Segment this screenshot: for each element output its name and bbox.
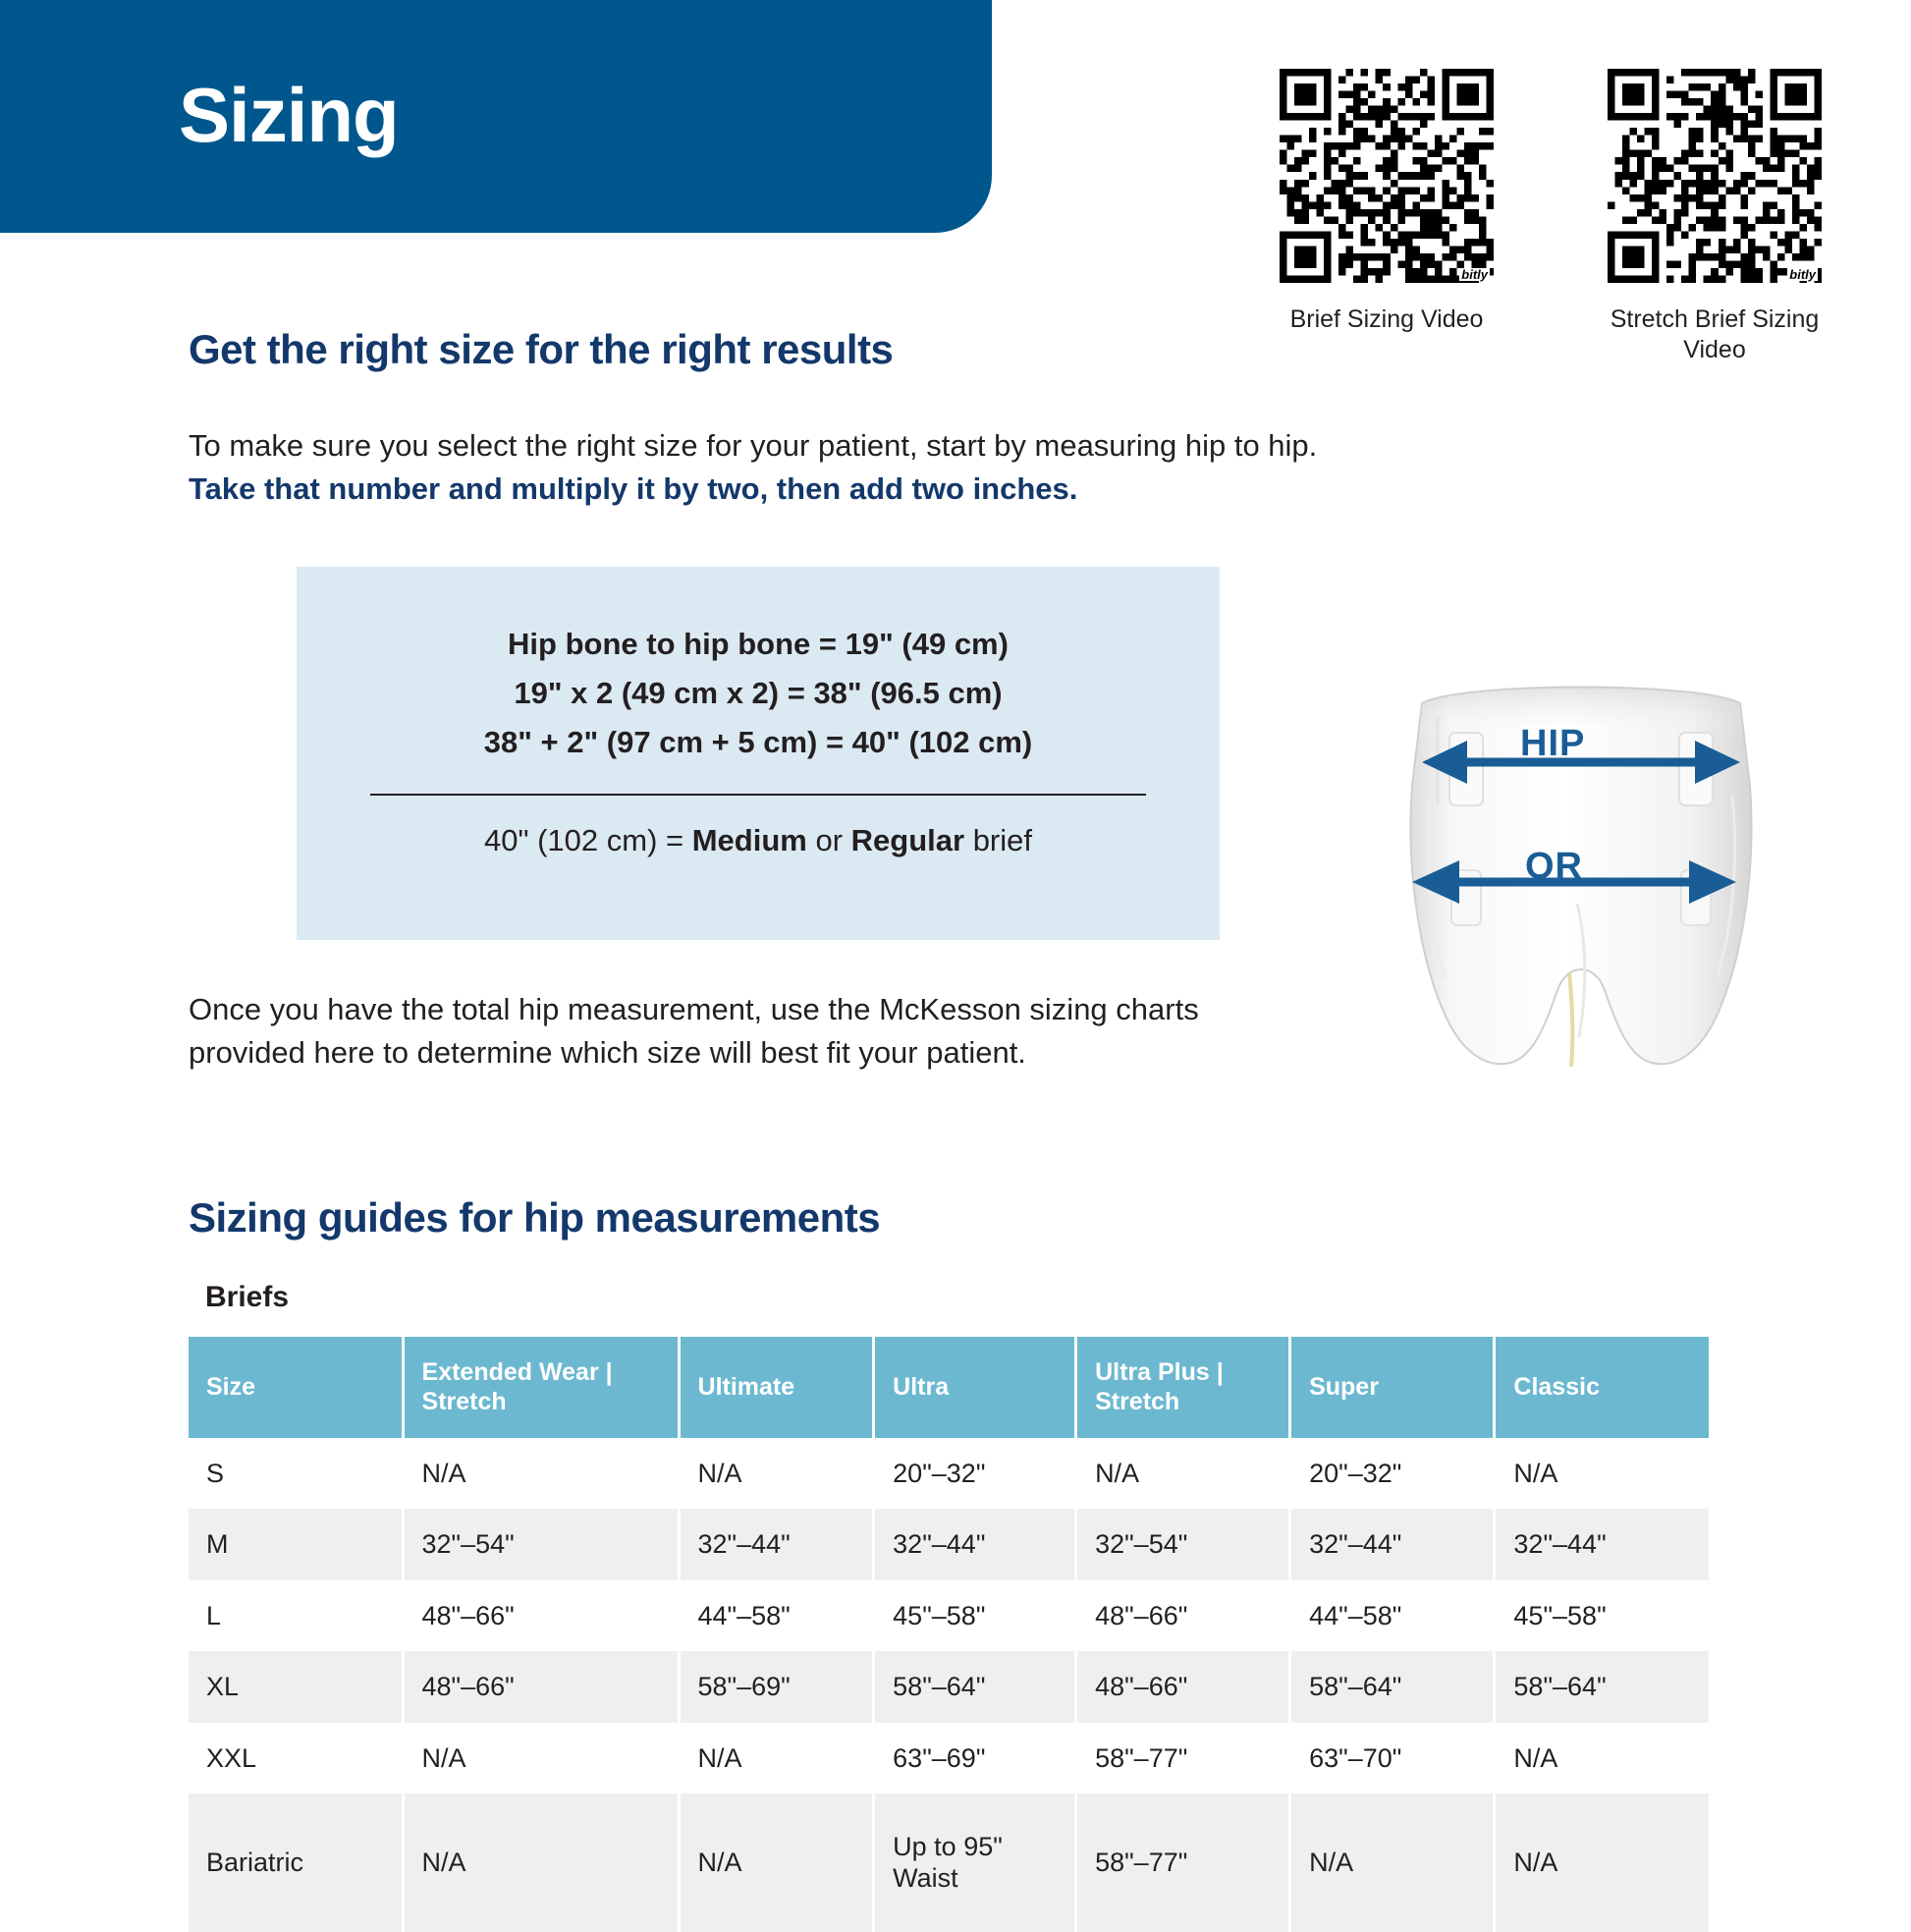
cell-size: M bbox=[189, 1509, 403, 1579]
formula-result: 40" (102 cm) = Medium or Regular brief bbox=[484, 823, 1032, 858]
cell-value: 48"–66" bbox=[1076, 1580, 1290, 1651]
result-prefix: 40" (102 cm) = bbox=[484, 823, 692, 857]
qr-code-icon-brief[interactable]: bitly bbox=[1280, 69, 1494, 283]
bitly-badge-stretch: bitly bbox=[1787, 268, 1818, 281]
col-header-ultra: Ultra bbox=[874, 1337, 1076, 1438]
col-header-extended: Extended Wear | Stretch bbox=[403, 1337, 679, 1438]
cell-value: 32"–44" bbox=[1495, 1509, 1709, 1579]
after-paragraph: Once you have the total hip measurement,… bbox=[189, 988, 1298, 1075]
cell-value: 48"–66" bbox=[403, 1651, 679, 1722]
col-header-ultraplus: Ultra Plus | Stretch bbox=[1076, 1337, 1290, 1438]
formula-line-2: 19" x 2 (49 cm x 2) = 38" (96.5 cm) bbox=[514, 669, 1002, 718]
table-row: XL48"–66"58"–69"58"–64"48"–66"58"–64"58"… bbox=[189, 1651, 1709, 1722]
section-heading-main: Get the right size for the right results bbox=[189, 326, 893, 373]
table-label-briefs: Briefs bbox=[205, 1281, 289, 1314]
cell-value: 20"–32" bbox=[874, 1438, 1076, 1509]
table-row: L48"–66"44"–58"45"–58"48"–66"44"–58"45"–… bbox=[189, 1580, 1709, 1651]
section-heading-guides: Sizing guides for hip measurements bbox=[189, 1194, 880, 1242]
cell-value: N/A bbox=[1076, 1438, 1290, 1509]
table-row: SN/AN/A20"–32"N/A20"–32"N/A bbox=[189, 1438, 1709, 1509]
result-bold-regular: Regular bbox=[851, 823, 964, 857]
cell-value: N/A bbox=[1495, 1438, 1709, 1509]
table-header-row: Size Extended Wear | Stretch Ultimate Ul… bbox=[189, 1337, 1709, 1438]
cell-value: 32"–44" bbox=[874, 1509, 1076, 1579]
intro-paragraph: To make sure you select the right size f… bbox=[189, 424, 1377, 511]
col-header-size: Size bbox=[189, 1337, 403, 1438]
cell-value: 58"–77" bbox=[1076, 1723, 1290, 1794]
qr-caption-stretch: Stretch Brief Sizing Video bbox=[1595, 304, 1834, 366]
cell-value: N/A bbox=[403, 1723, 679, 1794]
col-header-super: Super bbox=[1290, 1337, 1495, 1438]
qr-code-group: bitly Brief Sizing Video bitly Stretch B… bbox=[1267, 69, 1834, 366]
cell-value: 20"–32" bbox=[1290, 1438, 1495, 1509]
cell-value: 48"–66" bbox=[1076, 1651, 1290, 1722]
intro-accent-text: Take that number and multiply it by two,… bbox=[189, 471, 1077, 506]
cell-value: 44"–58" bbox=[1290, 1580, 1495, 1651]
page-title: Sizing bbox=[179, 77, 399, 153]
bitly-badge-brief: bitly bbox=[1459, 268, 1490, 281]
cell-value: 45"–58" bbox=[874, 1580, 1076, 1651]
intro-plain-text: To make sure you select the right size f… bbox=[189, 428, 1317, 463]
formula-line-3: 38" + 2" (97 cm + 5 cm) = 40" (102 cm) bbox=[484, 718, 1033, 767]
col-header-ultimate: Ultimate bbox=[679, 1337, 874, 1438]
cell-value: 32"–54" bbox=[1076, 1509, 1290, 1579]
briefs-sizing-table: Size Extended Wear | Stretch Ultimate Ul… bbox=[189, 1337, 1709, 1932]
table-row: M32"–54"32"–44"32"–44"32"–54"32"–44"32"–… bbox=[189, 1509, 1709, 1579]
cell-value: 45"–58" bbox=[1495, 1580, 1709, 1651]
formula-box: Hip bone to hip bone = 19" (49 cm) 19" x… bbox=[297, 567, 1220, 940]
or-label: OR bbox=[1525, 846, 1583, 888]
cell-value: N/A bbox=[403, 1438, 679, 1509]
cell-value: 58"–64" bbox=[1290, 1651, 1495, 1722]
result-suffix: brief bbox=[964, 823, 1032, 857]
cell-size: L bbox=[189, 1580, 403, 1651]
cell-value: N/A bbox=[679, 1723, 874, 1794]
cell-value: 32"–44" bbox=[1290, 1509, 1495, 1579]
header-banner: Sizing bbox=[0, 0, 992, 233]
hip-label: HIP bbox=[1520, 723, 1585, 765]
qr-caption-brief: Brief Sizing Video bbox=[1290, 304, 1484, 335]
cell-value: 32"–44" bbox=[679, 1509, 874, 1579]
cell-value: 32"–54" bbox=[403, 1509, 679, 1579]
cell-value: N/A bbox=[1495, 1723, 1709, 1794]
formula-divider bbox=[370, 794, 1146, 796]
cell-size: XL bbox=[189, 1651, 403, 1722]
col-header-classic: Classic bbox=[1495, 1337, 1709, 1438]
qr-block-stretch[interactable]: bitly Stretch Brief Sizing Video bbox=[1595, 69, 1834, 366]
table-row: XXLN/AN/A63"–69"58"–77"63"–70"N/A bbox=[189, 1723, 1709, 1794]
cell-value: 63"–69" bbox=[874, 1723, 1076, 1794]
cell-value: 58"–69" bbox=[679, 1651, 874, 1722]
cell-value: 58"–64" bbox=[874, 1651, 1076, 1722]
cell-value: N/A bbox=[679, 1438, 874, 1509]
qr-code-icon-stretch[interactable]: bitly bbox=[1608, 69, 1822, 283]
formula-line-1: Hip bone to hip bone = 19" (49 cm) bbox=[508, 620, 1009, 669]
cell-size: XXL bbox=[189, 1723, 403, 1794]
cell-value: 44"–58" bbox=[679, 1580, 874, 1651]
cell-value: 48"–66" bbox=[403, 1580, 679, 1651]
qr-block-brief[interactable]: bitly Brief Sizing Video bbox=[1267, 69, 1506, 366]
result-mid: or bbox=[807, 823, 851, 857]
result-bold-medium: Medium bbox=[692, 823, 807, 857]
cell-value: 63"–70" bbox=[1290, 1723, 1495, 1794]
cell-size: S bbox=[189, 1438, 403, 1509]
cell-value: 58"–64" bbox=[1495, 1651, 1709, 1722]
